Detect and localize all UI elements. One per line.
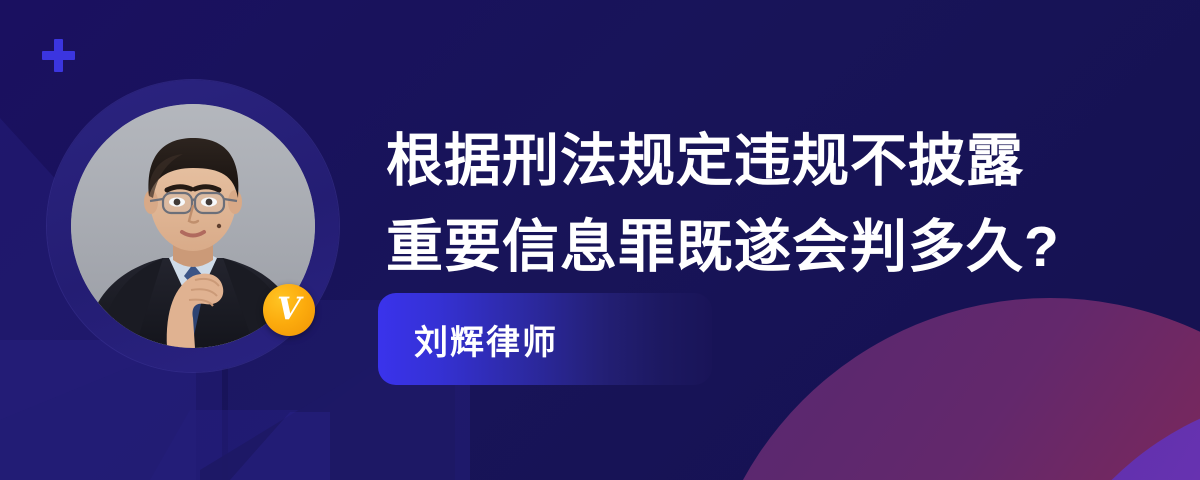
decor-circle-purple — [1020, 390, 1200, 480]
angular-shape-fg-triangle — [230, 412, 330, 480]
angular-shape-small — [150, 410, 330, 480]
plus-icon-vertical-bar — [54, 39, 63, 72]
lawyer-name-pill[interactable]: 刘辉律师 — [378, 293, 712, 385]
avatar[interactable]: V — [47, 80, 339, 372]
lawyer-name-label: 刘辉律师 — [414, 315, 558, 364]
page-title-line-2: 重要信息罪既遂会判多久? — [386, 204, 1146, 290]
verified-badge-glyph: V — [277, 294, 301, 325]
page-title: 根据刑法规定违规不披露 重要信息罪既遂会判多久? — [386, 118, 1146, 290]
plus-icon — [42, 39, 75, 72]
lawyer-question-banner: V 根据刑法规定违规不披露 重要信息罪既遂会判多久? 刘辉律师 — [0, 0, 1200, 480]
page-title-line-1: 根据刑法规定违规不披露 — [386, 118, 1146, 204]
verified-badge-icon: V — [263, 284, 315, 336]
decor-circle-magenta — [700, 298, 1200, 480]
